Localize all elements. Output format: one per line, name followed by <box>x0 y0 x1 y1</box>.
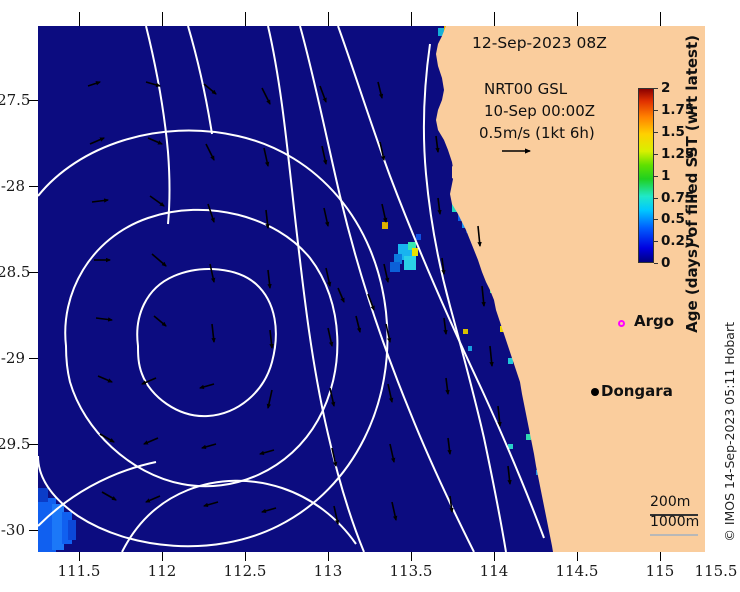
colorbar-tick-label: 0.5 <box>661 211 685 227</box>
colorbar-gradient <box>638 88 654 263</box>
argo-marker-icon <box>618 320 625 327</box>
x-tick-label: 113 <box>314 562 343 580</box>
sst-age-map-figure: 12-Sep-2023 08Z NRT00 GSL 10-Sep 00:00Z … <box>0 0 740 592</box>
x-tick-label: 112.5 <box>224 562 267 580</box>
x-tick-label: 112 <box>148 562 177 580</box>
current-vector-layer <box>38 26 705 552</box>
colorbar-tick-label: 2 <box>661 80 670 96</box>
argo-legend-label: Argo <box>634 312 674 330</box>
x-tick-label: 115.5 <box>695 562 738 580</box>
dongara-marker-icon <box>591 388 599 396</box>
depth-legend-1000m-label: 1000m <box>650 514 699 530</box>
x-tick-label: 111.5 <box>58 562 101 580</box>
y-tick-label: -29.5 <box>0 435 25 453</box>
map-plot-area[interactable]: 12-Sep-2023 08Z NRT00 GSL 10-Sep 00:00Z … <box>38 26 705 552</box>
colorbar-tick-label: 1.5 <box>661 124 685 140</box>
depth-legend-200m-label: 200m <box>650 494 690 510</box>
y-tick-label: -27.5 <box>0 91 25 109</box>
annotation-vector-scale: 0.5m/s (1kt 6h) <box>479 124 595 142</box>
y-tick-label: -28 <box>0 177 25 195</box>
y-tick-label: -30 <box>0 521 25 539</box>
annotation-product-time: 10-Sep 00:00Z <box>484 102 595 120</box>
colorbar-tick-label: 1 <box>661 168 670 184</box>
x-tick-label: 114 <box>480 562 509 580</box>
y-tick-label: -28.5 <box>0 263 25 281</box>
dongara-label: Dongara <box>601 382 673 400</box>
copyright-notice: © IMOS 14-Sep-2023 05:11 Hobart <box>722 322 737 542</box>
y-tick-label: -29 <box>0 349 25 367</box>
depth-legend-1000m-rule <box>650 534 698 536</box>
x-tick-label: 114.5 <box>556 562 599 580</box>
x-tick-label: 113.5 <box>390 562 433 580</box>
annotation-product: NRT00 GSL <box>484 80 567 98</box>
annotation-datetime: 12-Sep-2023 08Z <box>472 34 607 52</box>
colorbar-tick-label: 0 <box>661 255 670 271</box>
vector-scale-reference-arrow <box>500 144 540 158</box>
x-tick-label: 115 <box>646 562 675 580</box>
colorbar-title: Age (days) of filled SST (wrt latest) <box>683 35 701 333</box>
